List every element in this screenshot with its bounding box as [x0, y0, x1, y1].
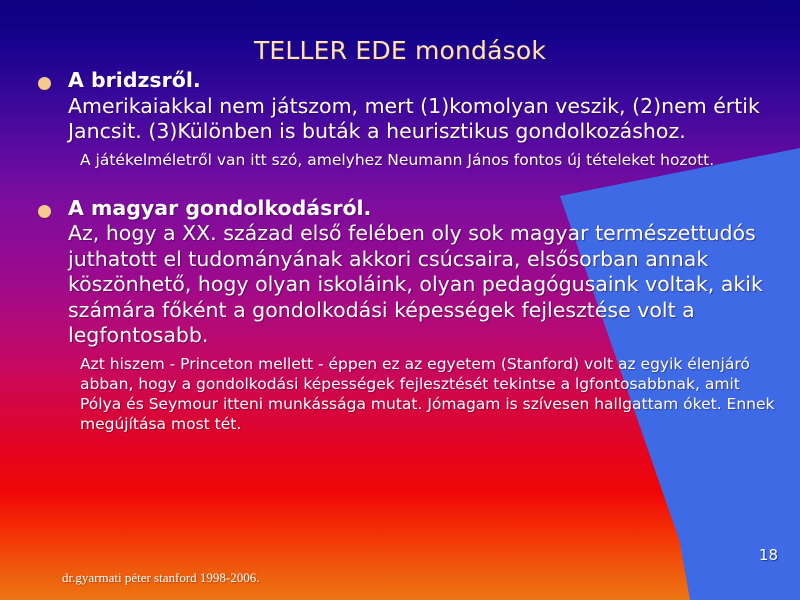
slide-content: TELLER EDE mondások A bridzsről. Amerika… [0, 0, 800, 600]
bullet-subtext: A játékelméletről van itt szó, amelyhez … [68, 150, 780, 170]
bullet-subtext: Azt hiszem - Princeton mellett - éppen e… [68, 354, 780, 434]
presentation-slide: TELLER EDE mondások A bridzsről. Amerika… [0, 0, 800, 600]
slide-page-number: 18 [759, 546, 778, 564]
bullet-body: Az, hogy a XX. század első felében oly s… [68, 221, 763, 347]
bullet-text-group: A bridzsről. Amerikaiakkal nem játszom, … [68, 68, 780, 145]
bullet-spacer [28, 170, 780, 196]
bullet-heading: A bridzsről. [68, 68, 201, 92]
slide-footer-attribution: dr.gyarmati péter stanford 1998-2006. [62, 570, 259, 586]
slide-body: A bridzsről. Amerikaiakkal nem játszom, … [28, 68, 780, 434]
bullet-body: Amerikaiakkal nem játszom, mert (1)komol… [68, 94, 760, 144]
bullet-dot-icon [38, 205, 51, 218]
page-title: TELLER EDE mondások [0, 36, 800, 65]
bullet-dot-icon [38, 77, 51, 90]
bullet-item: A bridzsről. Amerikaiakkal nem játszom, … [28, 68, 780, 170]
bullet-heading: A magyar gondolkodásról. [68, 196, 371, 220]
bullet-text-group: A magyar gondolkodásról. Az, hogy a XX. … [68, 196, 780, 349]
bullet-item: A magyar gondolkodásról. Az, hogy a XX. … [28, 196, 780, 434]
